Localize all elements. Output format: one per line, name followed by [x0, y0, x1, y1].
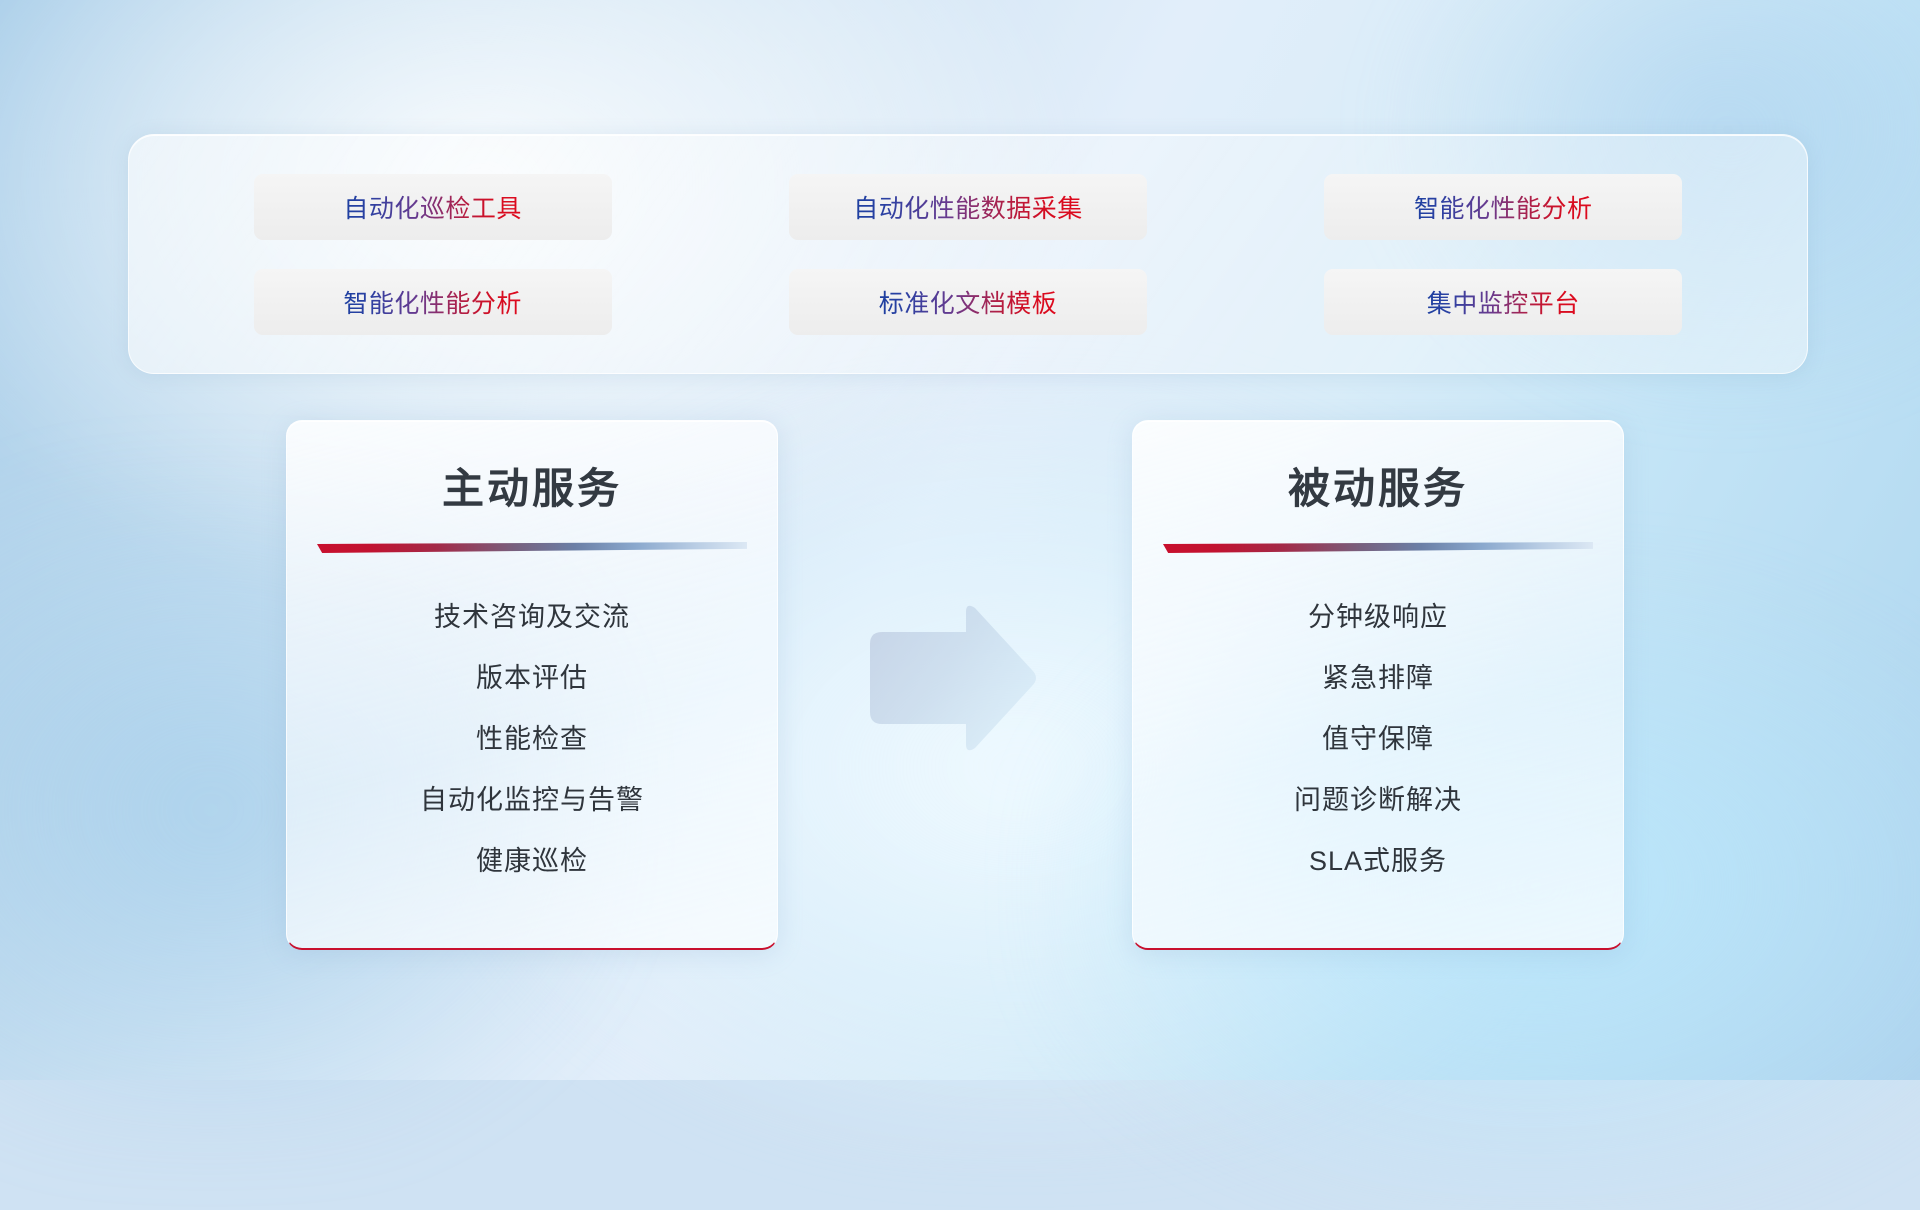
- capability-chip-4[interactable]: 标准化文档模板: [789, 269, 1147, 335]
- list-item: 健康巡检: [476, 831, 588, 892]
- capability-chip-3[interactable]: 智能化性能分析: [254, 269, 612, 335]
- capability-chip-label-0: 自动化巡检工具: [343, 189, 522, 225]
- capability-chip-label-3: 智能化性能分析: [343, 284, 522, 320]
- capability-chip-label-1: 自动化性能数据采集: [853, 189, 1083, 225]
- capability-chip-2[interactable]: 智能化性能分析: [1324, 174, 1682, 240]
- service-item-list-passive: 分钟级响应 紧急排障 值守保障 问题诊断解决 SLA式服务: [1133, 587, 1623, 892]
- list-item: 版本评估: [476, 648, 588, 709]
- service-card-active[interactable]: 主动服务 技术咨询及交流 版本评估 性能检查 自动化监控与告警 健康巡检: [286, 420, 778, 950]
- capability-chip-label-2: 智能化性能分析: [1414, 189, 1593, 225]
- title-divider-passive: [1163, 542, 1593, 553]
- capability-panel: 自动化巡检工具 自动化性能数据采集 智能化性能分析 智能化性能分析 标准化文档模…: [128, 134, 1808, 374]
- list-item: 值守保障: [1322, 709, 1434, 770]
- divider-wedge-icon: [317, 542, 747, 553]
- capability-chip-5[interactable]: 集中监控平台: [1324, 269, 1682, 335]
- divider-wedge-icon: [1163, 542, 1593, 553]
- list-item: 问题诊断解决: [1294, 770, 1462, 831]
- list-item: SLA式服务: [1309, 831, 1447, 892]
- capability-chip-1[interactable]: 自动化性能数据采集: [789, 174, 1147, 240]
- capability-chip-label-5: 集中监控平台: [1427, 284, 1580, 320]
- service-card-title-active: 主动服务: [287, 455, 777, 516]
- service-card-passive[interactable]: 被动服务 分钟级响应 紧急排障 值守保障 问题诊断解决 SLA式服务: [1132, 420, 1624, 950]
- capability-chip-0[interactable]: 自动化巡检工具: [254, 174, 612, 240]
- title-divider-active: [317, 542, 747, 553]
- service-card-title-passive: 被动服务: [1133, 455, 1623, 516]
- capability-chip-grid: 自动化巡检工具 自动化性能数据采集 智能化性能分析 智能化性能分析 标准化文档模…: [129, 135, 1807, 373]
- list-item: 紧急排障: [1322, 648, 1434, 709]
- list-item: 技术咨询及交流: [434, 587, 630, 648]
- list-item: 性能检查: [476, 709, 588, 770]
- arrow-right-icon: [862, 600, 1042, 760]
- service-item-list-active: 技术咨询及交流 版本评估 性能检查 自动化监控与告警 健康巡检: [287, 587, 777, 892]
- list-item: 自动化监控与告警: [420, 770, 644, 831]
- list-item: 分钟级响应: [1308, 587, 1448, 648]
- capability-chip-label-4: 标准化文档模板: [879, 284, 1058, 320]
